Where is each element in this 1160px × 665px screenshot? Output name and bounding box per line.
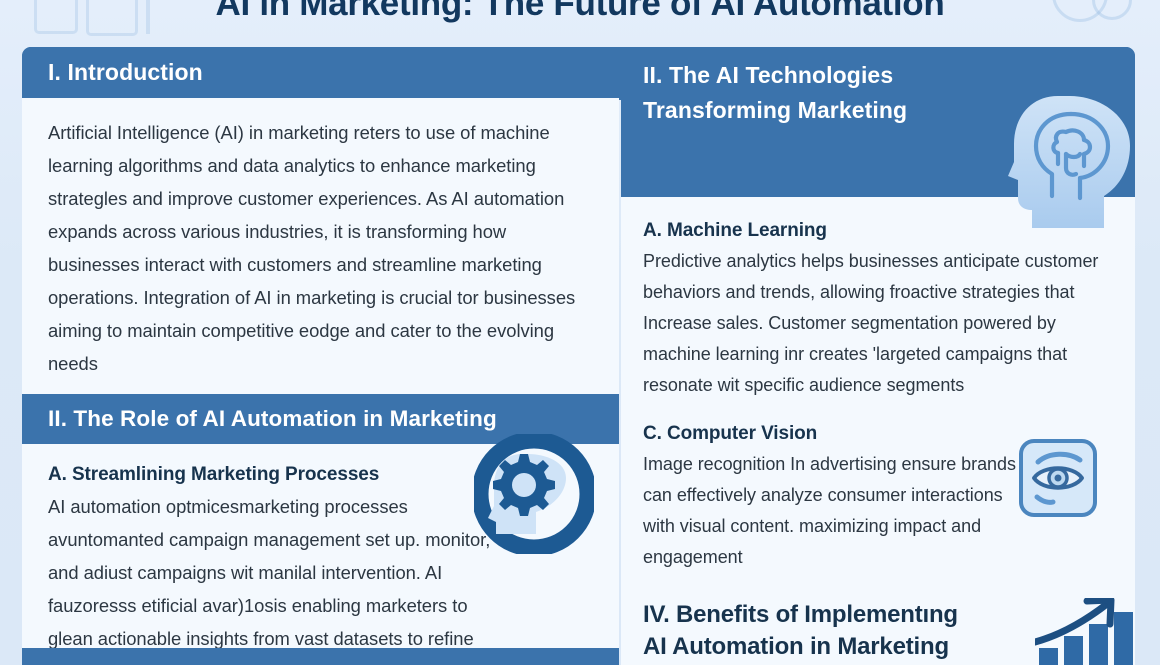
- next-section-header-bar-clipped: [22, 648, 619, 665]
- eye-icon: [1017, 437, 1099, 519]
- machine-learning-body: Predictive analytics helps businesses an…: [643, 246, 1115, 401]
- gear-head-icon: [474, 434, 594, 554]
- introduction-panel: Artificial Intelligence (AI) in marketin…: [22, 98, 619, 394]
- growth-chart-icon: [1035, 598, 1145, 665]
- introduction-body: Artificial Intelligence (AI) in marketin…: [48, 116, 597, 380]
- page-title: AI in Marketing: The Future of AI Automa…: [0, 0, 1160, 24]
- streamlining-body: AI automation optmicesmarketing processe…: [48, 490, 508, 665]
- infographic-page: AI in Marketing: The Future of AI Automa…: [0, 0, 1160, 665]
- computer-vision-body: Image recognition In advertising ensure …: [643, 449, 1025, 573]
- section-heading-introduction: I. Introduction: [22, 47, 619, 98]
- ai-technologies-panel: A. Machine Learning Predictive analytics…: [621, 197, 1135, 665]
- machine-learning-block: A. Machine Learning Predictive analytics…: [643, 220, 1119, 401]
- left-column: I. Introduction Artificial Intelligence …: [22, 47, 619, 665]
- brain-head-icon: [1008, 88, 1136, 228]
